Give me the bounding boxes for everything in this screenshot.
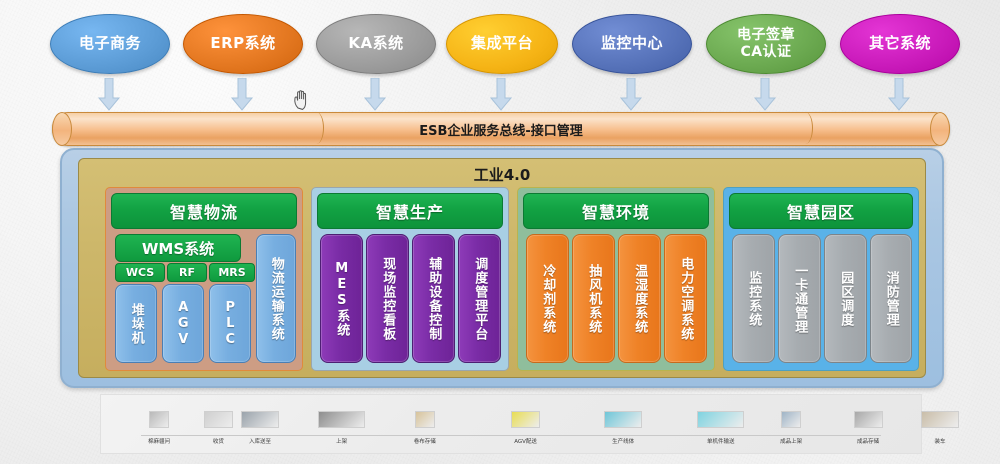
process-flow-strip: 棉麻疆问收货入库送至上架卷布存储AGV配送生产线体单机件输送成品上架成品存储装车 [100, 394, 922, 454]
process-step-thumbnail-2 [241, 411, 279, 428]
column-smart-park[interactable]: 智慧园区 监控系统 一卡通管理 园区调度 消防管理 [723, 187, 919, 371]
tile-onecard-management[interactable]: 一卡通管理 [778, 234, 821, 363]
process-step-5: AGV配送 [495, 411, 557, 447]
process-step-6: 生产线体 [592, 411, 654, 447]
tile-fire-safety-management[interactable]: 消防管理 [870, 234, 912, 363]
tile-rf[interactable]: RF [167, 263, 207, 282]
process-step-thumbnail-6 [604, 411, 642, 428]
process-step-label-0: 棉麻疆问 [148, 439, 170, 445]
process-step-thumbnail-9 [854, 411, 883, 428]
esb-bus[interactable]: ESB企业服务总线-接口管理 [52, 112, 950, 146]
tile-surveillance-system[interactable]: 监控系统 [732, 234, 775, 363]
process-step-10: 装车 [909, 411, 971, 447]
process-step-label-4: 卷布存储 [414, 439, 436, 445]
industry40-title: 工业4.0 [79, 164, 925, 185]
process-step-8: 成品上架 [760, 411, 822, 447]
process-step-label-10: 装车 [934, 439, 945, 445]
system-ellipse-3[interactable]: 集成平台 [446, 14, 558, 74]
system-ellipse-4[interactable]: 监控中心 [572, 14, 692, 74]
arrow-down-icon-5 [753, 78, 777, 112]
process-step-label-2: 入库送至 [249, 439, 271, 445]
tile-aux-equipment-control[interactable]: 辅助设备控制 [412, 234, 455, 363]
arrow-down-icon-4 [619, 78, 643, 112]
process-step-label-5: AGV配送 [514, 439, 537, 445]
industry40-frame: 工业4.0 智慧物流 WMS系统 WCS RF MRS 堆垛机 AGV PLC … [60, 148, 944, 388]
system-ellipse-1[interactable]: ERP系统 [183, 14, 303, 74]
tile-wcs[interactable]: WCS [115, 263, 165, 282]
industry40-panel: 工业4.0 智慧物流 WMS系统 WCS RF MRS 堆垛机 AGV PLC … [78, 158, 926, 378]
process-step-4: 卷布存储 [394, 411, 456, 447]
process-step-label-1: 收货 [213, 439, 224, 445]
tile-plc[interactable]: PLC [209, 284, 251, 363]
column-smart-production[interactable]: 智慧生产 MES系统 现场监控看板 辅助设备控制 调度管理平台 [311, 187, 509, 371]
process-step-label-6: 生产线体 [612, 439, 634, 445]
tile-temp-humidity-system[interactable]: 温湿度系统 [618, 234, 661, 363]
esb-label: ESB企业服务总线-接口管理 [53, 113, 949, 145]
process-step-2: 入库送至 [229, 411, 291, 447]
column-header-environment: 智慧环境 [523, 193, 709, 229]
process-step-0: 棉麻疆问 [128, 411, 190, 447]
system-ellipse-6[interactable]: 其它系统 [840, 14, 960, 74]
column-smart-logistics[interactable]: 智慧物流 WMS系统 WCS RF MRS 堆垛机 AGV PLC 物流运输系统 [105, 187, 303, 371]
arrow-down-icon-1 [230, 78, 254, 112]
process-step-thumbnail-8 [781, 411, 801, 428]
arrow-down-icon-3 [489, 78, 513, 112]
system-ellipse-0[interactable]: 电子商务 [50, 14, 170, 74]
process-step-label-9: 成品存储 [857, 439, 879, 445]
process-step-thumbnail-0 [149, 411, 169, 428]
column-header-park: 智慧园区 [729, 193, 913, 229]
process-step-label-7: 单机件输送 [707, 439, 735, 445]
tile-scheduling-platform[interactable]: 调度管理平台 [458, 234, 501, 363]
system-ellipse-5[interactable]: 电子签章 CA认证 [706, 14, 826, 74]
process-step-label-3: 上架 [336, 439, 347, 445]
process-step-thumbnail-10 [921, 411, 959, 428]
column-header-logistics: 智慧物流 [111, 193, 297, 229]
process-step-label-8: 成品上架 [780, 439, 802, 445]
arrow-down-icon-2 [363, 78, 387, 112]
column-body-environment: 冷却剂系统 抽风机系统 温湿度系统 电力空调系统 [523, 232, 709, 365]
column-body-production: MES系统 现场监控看板 辅助设备控制 调度管理平台 [317, 232, 503, 365]
wms-system-block[interactable]: WMS系统 [115, 234, 241, 262]
column-body-logistics: WMS系统 WCS RF MRS 堆垛机 AGV PLC 物流运输系统 [111, 232, 297, 365]
process-step-thumbnail-4 [415, 411, 435, 428]
tile-power-hvac-system[interactable]: 电力空调系统 [664, 234, 707, 363]
tile-exhaust-fan-system[interactable]: 抽风机系统 [572, 234, 615, 363]
tile-onsite-monitor-board[interactable]: 现场监控看板 [366, 234, 409, 363]
system-ellipse-2[interactable]: KA系统 [316, 14, 436, 74]
column-smart-environment[interactable]: 智慧环境 冷却剂系统 抽风机系统 温湿度系统 电力空调系统 [517, 187, 715, 371]
tile-mes-system[interactable]: MES系统 [320, 234, 363, 363]
process-step-7: 单机件输送 [690, 411, 752, 447]
column-body-park: 监控系统 一卡通管理 园区调度 消防管理 [729, 232, 913, 365]
column-header-production: 智慧生产 [317, 193, 503, 229]
tile-agv[interactable]: AGV [162, 284, 204, 363]
process-step-thumbnail-7 [697, 411, 744, 428]
arrow-down-icon-0 [97, 78, 121, 112]
tile-mrs[interactable]: MRS [209, 263, 255, 282]
grab-hand-cursor [292, 88, 312, 112]
process-step-thumbnail-3 [318, 411, 365, 428]
arrow-down-icon-6 [887, 78, 911, 112]
tile-park-scheduling[interactable]: 园区调度 [824, 234, 867, 363]
tile-coolant-system[interactable]: 冷却剂系统 [526, 234, 569, 363]
process-step-9: 成品存储 [837, 411, 899, 447]
process-step-thumbnail-5 [511, 411, 540, 428]
diagram-canvas: 电子商务ERP系统KA系统集成平台监控中心电子签章 CA认证其它系统 ESB企业… [0, 0, 1000, 464]
tile-stacker[interactable]: 堆垛机 [115, 284, 157, 363]
tile-logistics-transport[interactable]: 物流运输系统 [256, 234, 296, 363]
process-step-3: 上架 [311, 411, 373, 447]
